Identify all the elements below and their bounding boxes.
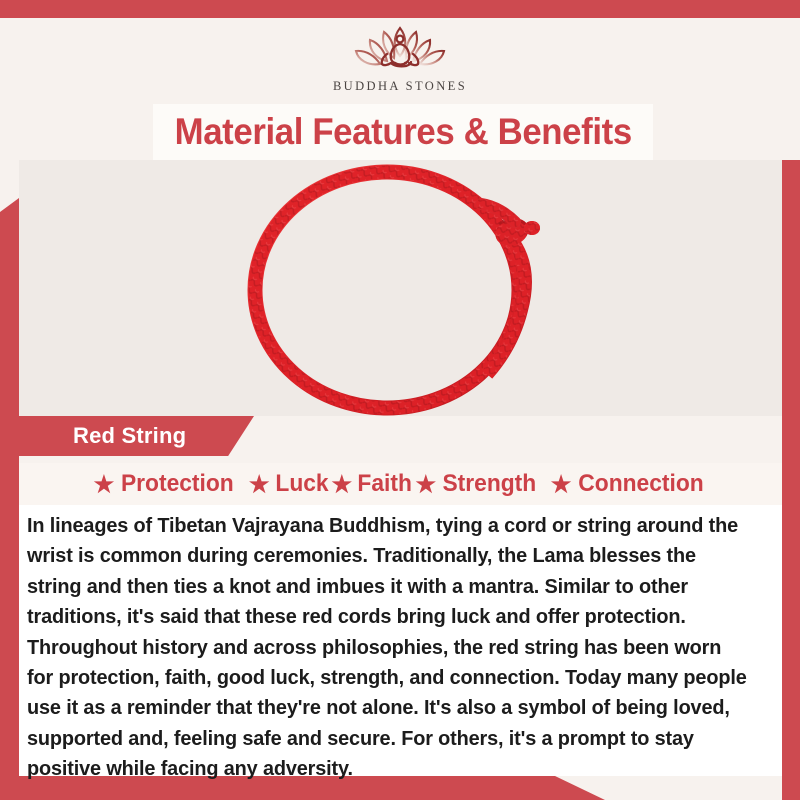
lotus-meditation-icon <box>334 18 466 78</box>
benefit-strength: ★ Strength <box>415 470 538 498</box>
brand-header: BUDDHA STONES <box>0 18 800 104</box>
benefit-faith: ★ Faith <box>332 470 414 498</box>
red-cord-bracelet-illustration <box>181 160 621 416</box>
star-icon: ★ <box>415 473 436 496</box>
star-icon: ★ <box>332 473 353 496</box>
product-name-label: Red String <box>19 423 186 449</box>
title-plate: Material Features & Benefits <box>153 104 653 160</box>
benefit-label: Protection <box>121 470 234 498</box>
description-box: In lineages of Tibetan Vajrayana Buddhis… <box>19 505 782 776</box>
infographic-page: BUDDHA STONES Material Features & Benefi… <box>0 0 800 800</box>
title-band: Material Features & Benefits <box>0 104 800 160</box>
left-red-border <box>0 198 19 783</box>
benefit-protection: ★ Protection <box>94 470 237 498</box>
benefit-connection: ★ Connection <box>551 470 708 498</box>
benefit-label: Strength <box>443 470 537 498</box>
brand-name: BUDDHA STONES <box>333 79 467 94</box>
benefits-row: ★ Protection ★ Luck ★ Faith ★ Strength ★… <box>19 463 782 505</box>
star-icon: ★ <box>94 473 115 496</box>
benefit-label: Faith <box>358 470 412 498</box>
description-paragraph: In lineages of Tibetan Vajrayana Buddhis… <box>27 511 751 785</box>
top-red-border <box>0 0 800 18</box>
benefit-label: Connection <box>579 470 704 498</box>
page-title: Material Features & Benefits <box>174 111 631 153</box>
star-icon: ★ <box>249 473 270 496</box>
benefit-luck: ★ Luck <box>249 470 330 498</box>
product-name-banner: Red String <box>19 416 254 456</box>
benefit-label: Luck <box>275 470 328 498</box>
product-image <box>19 160 782 416</box>
star-icon: ★ <box>551 473 572 496</box>
brand-logo: BUDDHA STONES <box>0 18 800 104</box>
